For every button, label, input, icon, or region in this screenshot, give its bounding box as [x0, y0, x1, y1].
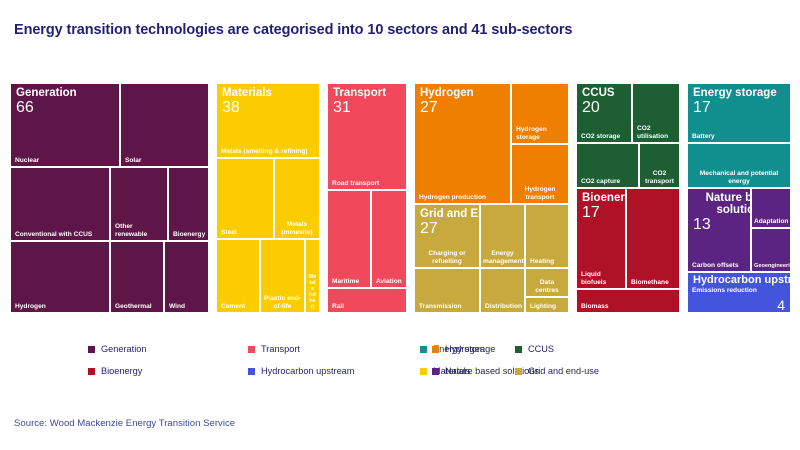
tile-label: Solar: [125, 157, 205, 164]
tile-label: Adaptation: [754, 218, 788, 225]
sector-value: 31: [333, 100, 386, 117]
treemap-tile-hydrogen-storage[interactable]: Hydrogen storage: [511, 83, 569, 144]
treemap-tile-heating[interactable]: Heating: [525, 204, 569, 268]
tile-label: Steel: [221, 229, 270, 236]
legend-swatch: [88, 346, 95, 353]
legend-item-transport[interactable]: Transport: [248, 338, 420, 360]
sector-header-generation: Generation 66: [16, 87, 77, 117]
sector-name: Transport: [333, 87, 386, 99]
treemap-tile-co2-capture[interactable]: CO2 capture: [576, 143, 639, 188]
sector-name: Energy storage: [693, 87, 777, 99]
tile-label: Wind: [169, 303, 205, 310]
sector-name: Grid and End Use: [420, 208, 480, 220]
treemap-tile-road-transport[interactable]: Transport 31 Road transport: [327, 83, 407, 190]
tile-label: Maritime: [332, 278, 367, 285]
treemap-tile-wind[interactable]: Wind: [164, 241, 209, 313]
tile-label: Conventional with CCUS: [15, 231, 106, 238]
legend-swatch: [248, 346, 255, 353]
legend-item-ccus[interactable]: CCUS: [515, 338, 728, 360]
source-note: Source: Wood Mackenzie Energy Transition…: [14, 418, 235, 429]
treemap-tile-cement[interactable]: Cement: [216, 239, 260, 313]
sector-value: 4: [777, 298, 785, 312]
tile-label: Heating: [530, 258, 565, 265]
treemap-tile-lighting[interactable]: Lighting: [525, 297, 569, 313]
tile-label: Geothermal: [115, 303, 160, 310]
treemap-tile-solar[interactable]: Solar: [120, 83, 209, 167]
treemap-tile-biomass[interactable]: Biomass: [576, 289, 680, 313]
tile-label: Data centres: [528, 279, 566, 294]
legend-label: Hydrogen: [445, 344, 485, 354]
treemap-tile-metals-smelting-refining[interactable]: Materials 38 Metals (smelting & refining…: [216, 83, 320, 158]
tile-label: Cement: [221, 303, 256, 310]
treemap-tile-transmission[interactable]: Transmission: [414, 268, 480, 313]
legend-item-bioenergy[interactable]: Bioenergy: [88, 360, 248, 382]
sector-value: 27: [420, 100, 474, 117]
legend-swatch: [515, 368, 522, 375]
tile-label: CO2 capture: [581, 178, 635, 185]
treemap-tile-plastic-end-of-life[interactable]: Plastic end-of-life: [260, 239, 305, 313]
treemap-tile-geothermal[interactable]: Geothermal: [110, 241, 164, 313]
tile-label: CO2 utilisation: [637, 125, 676, 140]
sector-value: 27: [420, 221, 480, 238]
tile-label: Lighting: [530, 303, 565, 310]
sector-name: Bioenergy: [582, 192, 626, 204]
treemap-tile-generation-bioenergy[interactable]: Bioenergy: [168, 167, 209, 241]
treemap-tile-co2-transport[interactable]: CO2 transport: [639, 143, 680, 188]
sector-header-materials: Materials 38: [222, 87, 272, 117]
legend-swatch: [248, 368, 255, 375]
tile-label: Distribution: [485, 303, 521, 310]
treemap-tile-adaptation[interactable]: Adaptation: [751, 188, 791, 228]
legend-item-hydrocarbon-upstream[interactable]: Hydrocarbon upstream: [248, 360, 420, 382]
legend-label: Hydrocarbon upstream: [261, 366, 354, 376]
tile-label: Mechanical and potential energy: [690, 170, 788, 185]
sector-value: 66: [16, 100, 77, 117]
sector-name: Generation: [16, 87, 77, 99]
tile-label: Other renewable: [115, 223, 164, 238]
treemap-tile-nuclear[interactable]: Generation 66 Nuclear: [10, 83, 120, 167]
legend-label: Bioenergy: [101, 366, 142, 376]
treemap-tile-mechanical-and-potential-energy[interactable]: Mechanical and potential energy: [687, 143, 791, 188]
sector-header-hydrogen: Hydrogen 27: [420, 87, 474, 117]
sector-header-nature-based-solutions: Nature based solutions 13: [688, 192, 750, 234]
sector-name: Materials: [222, 87, 272, 99]
tile-label: Bioenergy: [173, 231, 205, 238]
treemap-tile-maritime[interactable]: Maritime: [327, 190, 371, 288]
sector-name: Hydrocarbon upstream: [693, 274, 791, 286]
tile-label: Energy management: [483, 250, 522, 265]
tile-label: Hydrogen storage: [516, 126, 565, 141]
sector-name: CCUS: [582, 87, 615, 99]
sector-header-ccus: CCUS 20: [582, 87, 615, 117]
legend-label: Generation: [101, 344, 146, 354]
treemap-tile-other-renewable[interactable]: Other renewable: [110, 167, 168, 241]
treemap-tile-generation-hydrogen[interactable]: Hydrogen: [10, 241, 110, 313]
tile-label: Metals (other): [308, 274, 317, 310]
treemap-tile-carbon-offsets[interactable]: Nature based solutions 13 Carbon offsets: [687, 188, 751, 272]
tile-label: Metals (minesite): [277, 221, 317, 236]
treemap-tile-biomethane[interactable]: Biomethane: [626, 188, 680, 289]
treemap-tile-battery[interactable]: Energy storage 17 Battery: [687, 83, 791, 143]
treemap-tile-hydrogen-transport[interactable]: Hydrogen transport: [511, 144, 569, 204]
tile-label: Biomass: [581, 303, 676, 310]
sector-value: 20: [582, 100, 615, 117]
tile-label: Aviation: [376, 278, 403, 285]
tile-label: Transmission: [419, 303, 476, 310]
legend-swatch: [515, 346, 522, 353]
treemap-tile-aviation[interactable]: Aviation: [371, 190, 407, 288]
treemap-tile-metals-other[interactable]: Metals (other): [305, 239, 320, 313]
treemap-tile-hydrogen-production[interactable]: Hydrogen 27 Hydrogen production: [414, 83, 511, 204]
tile-label: Rail: [332, 303, 403, 310]
tile-label: Emissions reduction: [692, 287, 787, 294]
tile-label: Metals (smelting & refining): [221, 148, 316, 155]
legend-item-generation[interactable]: Generation: [88, 338, 248, 360]
tile-label: Liquid biofuels: [581, 271, 622, 286]
sector-header-bioenergy: Bioenergy 17: [582, 192, 626, 222]
treemap-tile-geoengineering[interactable]: Geoengineering: [751, 228, 791, 272]
treemap-tile-co2-utilisation[interactable]: CO2 utilisation: [632, 83, 680, 143]
treemap-tile-liquid-biofuels[interactable]: Bioenergy 17 Liquid biofuels: [576, 188, 626, 289]
legend-label: Grid and end-use: [528, 366, 599, 376]
legend-label: Transport: [261, 344, 300, 354]
legend-swatch: [432, 346, 439, 353]
tile-label: Geoengineering: [754, 263, 788, 269]
sector-value: 38: [222, 100, 272, 117]
legend-swatch: [88, 368, 95, 375]
tile-label: Hydrogen transport: [514, 186, 566, 201]
tile-label: Plastic end-of-life: [263, 295, 302, 310]
sector-name: Nature based solutions: [688, 192, 751, 216]
sector-name: Hydrogen: [420, 87, 474, 99]
tile-label: Battery: [692, 133, 787, 140]
treemap-tile-data-centres[interactable]: Data centres: [525, 268, 569, 297]
sector-header-grid-and-end-use: Grid and End Use 27: [420, 208, 480, 238]
sector-value: 13: [688, 217, 750, 234]
tile-label: Biomethane: [631, 279, 676, 286]
treemap-tile-distribution[interactable]: Distribution: [480, 268, 525, 313]
treemap-tile-conventional-with-ccus[interactable]: Conventional with CCUS: [10, 167, 110, 241]
tile-label: CO2 transport: [642, 170, 677, 185]
treemap-chart: Generation 66 Nuclear Solar Conventional…: [10, 83, 791, 323]
sector-value: 17: [693, 100, 777, 117]
treemap-tile-charging-or-refuelling[interactable]: Grid and End Use 27 Charging or refuelli…: [414, 204, 480, 268]
page-title: Energy transition technologies are categ…: [14, 22, 572, 38]
sector-header-transport: Transport 31: [333, 87, 386, 117]
sector-value: 17: [582, 205, 626, 222]
legend-label: CCUS: [528, 344, 554, 354]
legend: Generation Transport Energy storage Hydr…: [88, 338, 728, 382]
treemap-tile-metals-minesite[interactable]: Metals (minesite): [274, 158, 320, 239]
legend-swatch: [432, 368, 439, 375]
tile-label: Carbon offsets: [692, 262, 747, 269]
sector-header-energy-storage: Energy storage 17: [693, 87, 777, 117]
tile-label: Road transport: [332, 180, 403, 187]
tile-label: Charging or refuelling: [417, 250, 477, 265]
tile-label: Hydrogen production: [419, 194, 507, 201]
treemap-tile-co2-storage[interactable]: CCUS 20 CO2 storage: [576, 83, 632, 143]
treemap-tile-emissions-reduction[interactable]: Hydrocarbon upstream Emissions reduction…: [687, 272, 791, 313]
tile-label: CO2 storage: [581, 133, 628, 140]
treemap-tile-steel[interactable]: Steel: [216, 158, 274, 239]
legend-swatch: [420, 368, 427, 375]
treemap-tile-rail[interactable]: Rail: [327, 288, 407, 313]
legend-item-grid-and-end-use[interactable]: Grid and end-use: [515, 360, 728, 382]
tile-label: Nuclear: [15, 157, 116, 164]
legend-swatch: [420, 346, 427, 353]
treemap-tile-energy-management[interactable]: Energy management: [480, 204, 525, 268]
tile-label: Hydrogen: [15, 303, 106, 310]
